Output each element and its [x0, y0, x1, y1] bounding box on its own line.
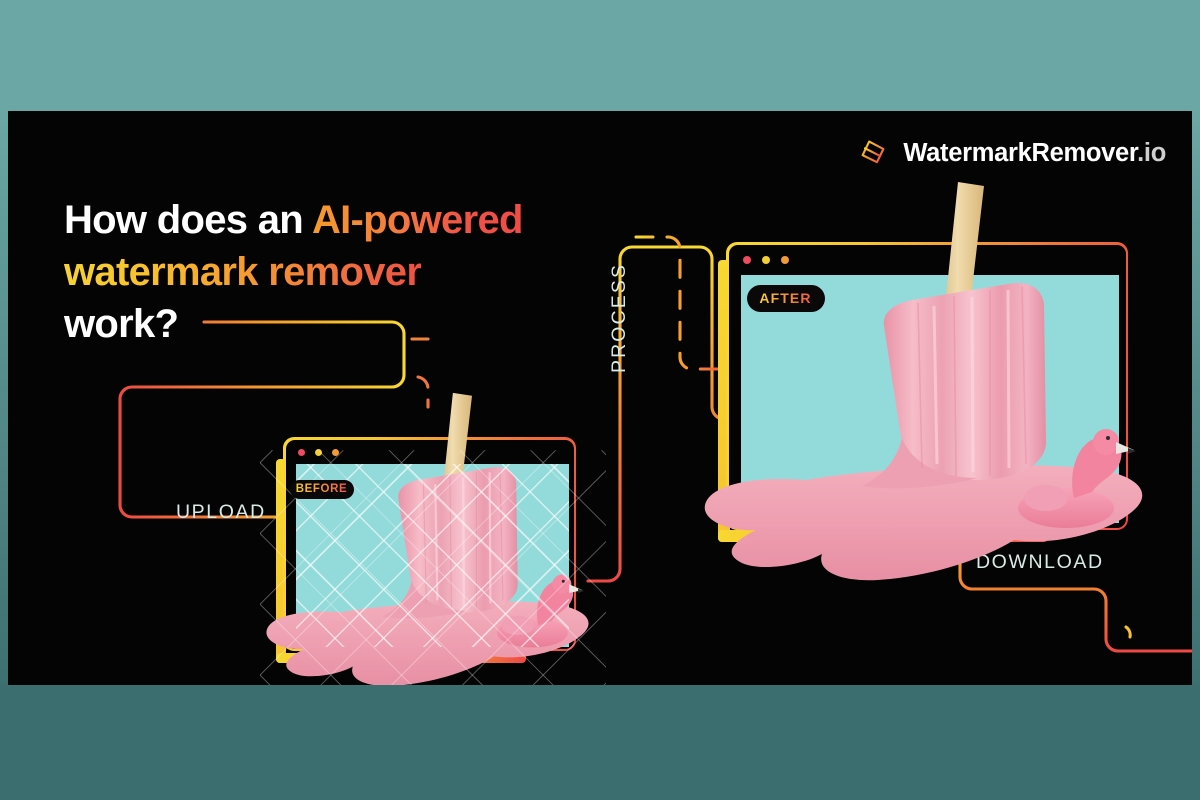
- infographic-canvas: WatermarkRemover.io How does an AI-power…: [8, 111, 1192, 685]
- status-badge-before: BEFORE: [290, 480, 354, 499]
- step-label-upload: UPLOAD: [176, 501, 266, 524]
- status-badge-after: AFTER: [747, 285, 825, 312]
- slide-stage: WatermarkRemover.io How does an AI-power…: [0, 0, 1200, 800]
- browser-mock-before[interactable]: BEFORE: [276, 437, 576, 663]
- step-label-process: PROCESS: [608, 263, 631, 373]
- background-wall-lower: [0, 684, 1200, 800]
- popsicle-artwork-before: [260, 391, 606, 685]
- browser-mock-after[interactable]: AFTER: [718, 242, 1128, 538]
- popsicle-artwork-after: [696, 180, 1166, 592]
- background-wall-upper: [0, 0, 1200, 112]
